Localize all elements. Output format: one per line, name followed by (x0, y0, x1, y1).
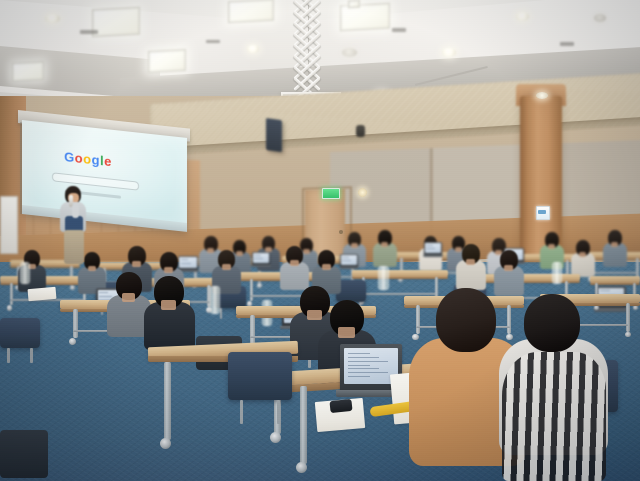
chair-post (240, 400, 244, 424)
striped-top-pattern (502, 352, 606, 481)
desk-caster (296, 462, 307, 473)
desk-caster (270, 432, 281, 443)
paper-sheet (28, 287, 57, 301)
laptop-text-line (348, 372, 388, 373)
smartphone (329, 399, 352, 413)
chair-backrest (228, 352, 292, 400)
laptop-text-line (348, 361, 388, 362)
whiteboard-easel (0, 196, 18, 254)
chair-post (277, 400, 281, 424)
attendee-foreground (436, 288, 496, 454)
laptop-text-line (348, 365, 370, 366)
laptop-text-line (348, 368, 379, 369)
lecture-hall-photo: Google (0, 0, 640, 481)
desk-leg (300, 386, 307, 464)
desk-leg (164, 362, 171, 440)
laptop-text-line (348, 376, 370, 377)
audience-foreground (0, 0, 640, 481)
desk-caster (160, 438, 171, 449)
attendee-head (436, 288, 496, 352)
laptop-text-line (348, 357, 379, 358)
presenter (56, 186, 92, 264)
presenter-arm (72, 204, 79, 218)
attendee-head (524, 294, 580, 352)
laptop-text-line (348, 353, 370, 354)
presenter-legs (64, 230, 84, 264)
